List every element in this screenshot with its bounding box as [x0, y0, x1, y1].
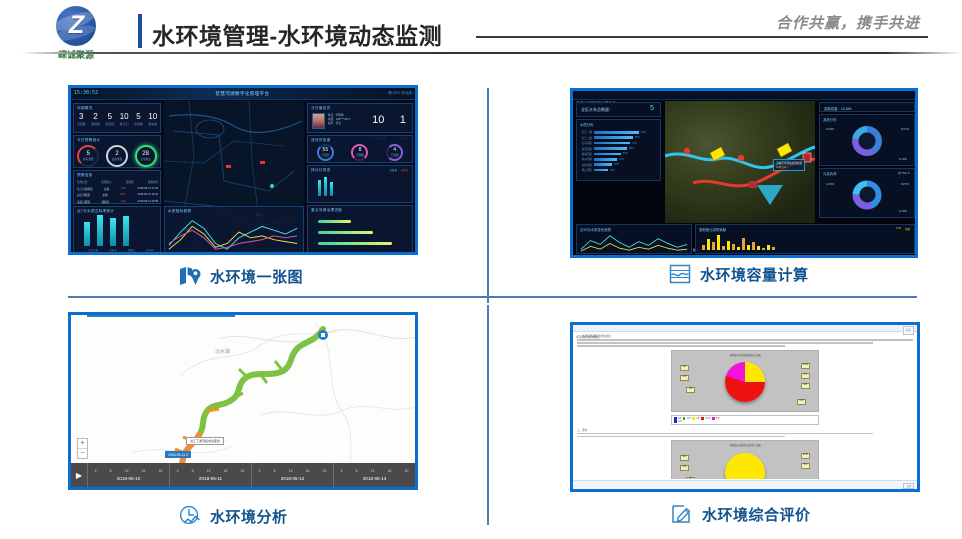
- panel-title: 河湖概况: [77, 106, 93, 111]
- avatar: [312, 113, 325, 129]
- bar: [747, 245, 750, 250]
- map-tooltip: 淡江下游河段水位变化: [186, 437, 224, 445]
- gauge-alert-exceed: 5 超标预警: [77, 145, 99, 167]
- timeline-ticks: 4 8 12 16 20: [334, 463, 415, 474]
- panel-treatment-progress: 重点河湖治理进度: [307, 205, 413, 254]
- hbar-row: 东江二级80%: [580, 136, 660, 140]
- stat-item: 5水闸数: [134, 113, 143, 126]
- logo-letter: Z: [69, 13, 83, 38]
- callout-box: 合计: [801, 373, 810, 379]
- callout-box: Ⅲ类: [680, 455, 689, 461]
- map-callout: 流域污水排放处理总量 1.25万m³: [773, 159, 805, 171]
- caption-label: 水环境容量计算: [700, 264, 809, 285]
- report-body: 一、水环境质量综合评价结论 各断面水环境质量类别占比图 Ⅲ类 Ⅳ类 Ⅴ类 劣Ⅴ类…: [577, 334, 913, 479]
- timeline-segment[interactable]: 4 8 12 16 20 2018-05-11: [169, 463, 251, 487]
- divider-vertical-bottom: [487, 305, 489, 525]
- panel-title: 重点河湖治理进度: [311, 208, 342, 213]
- divider-horizontal-right: [487, 296, 917, 298]
- figure-title: 各断面水环境质量类别占比图: [672, 353, 818, 357]
- panel-outfall-bars: 排污口排查 已排查 未排查: [307, 165, 413, 203]
- panel-title: 减排分布: [823, 117, 837, 122]
- timeline-date: 2018-05-13: [334, 474, 415, 487]
- panel-trend-line: 水质指标趋势: [164, 206, 304, 254]
- callout-box: Ⅲ类: [801, 383, 810, 389]
- panel-compliance-bars: 近7天水质达标率统计 东江大桥 白石河 清溪口 石马河: [73, 206, 161, 254]
- stat-item: 2湖泊数: [91, 113, 100, 126]
- ring-patrolled: 55 已巡查: [317, 144, 334, 161]
- zoom-in-button[interactable]: +: [78, 439, 87, 448]
- hbar: [318, 242, 392, 245]
- donut-chart-load: [853, 180, 882, 209]
- zoom-out-button[interactable]: −: [78, 448, 87, 458]
- timeline-date: 2018-05-10: [88, 474, 169, 487]
- panel-title: 今日值班员: [311, 106, 330, 111]
- screenshot-water-one-map[interactable]: 15:30:52 智慧河湖数字化管理平台 晴 23℃ 东北风 河湖概况 3河道数…: [68, 85, 418, 255]
- line-chart: [167, 215, 303, 253]
- bar-chart-outfall: [318, 174, 333, 196]
- callout-box: Ⅲ类: [680, 365, 689, 371]
- ring-resolved: 4 已处理: [386, 144, 403, 161]
- satellite-map[interactable]: 流域污水排放处理总量 1.25万m³: [665, 101, 815, 223]
- timeline-segment[interactable]: 4 8 12 16 20 2018-05-12: [251, 463, 333, 487]
- map-pin-icon: [178, 264, 202, 288]
- bar: [707, 239, 710, 250]
- bar: [110, 218, 116, 246]
- panel-extra: 共 750 人: [898, 171, 910, 175]
- hbar-row: 龙岗河段38%: [580, 163, 660, 167]
- bar: [767, 245, 770, 250]
- dashboard-canvas: 15:30:52 智慧河湖数字化管理平台 晴 23℃ 东北风 河湖概况 3河道数…: [71, 88, 415, 252]
- hbar-row: 东江一级92%: [580, 130, 660, 134]
- panel-water-quality-bars: 水质分布 东江一级92% 东江二级80% 石马河段74% 清溪河段68% 观澜河…: [576, 119, 661, 181]
- hbar-group: [318, 220, 406, 245]
- bar: [772, 247, 775, 250]
- panel-donut-load: 污染负荷 共 750 人 43.85% 38.57% 41.59%: [819, 168, 915, 218]
- duty-role: 职务：河长: [328, 121, 350, 125]
- bar: [742, 238, 745, 250]
- bar: [712, 242, 715, 250]
- header-tagline: 合作共赢，携手共进: [776, 12, 920, 33]
- bar: [123, 216, 129, 246]
- bar: [324, 177, 327, 196]
- title-accent-bar: [138, 14, 142, 48]
- bar: [737, 247, 740, 250]
- panel-trend-30d: 近30天水质变化趋势: [576, 224, 692, 254]
- timeline-ticks: 4 8 12 16 20: [88, 463, 169, 474]
- figure-pie-1: 各断面水环境质量类别占比图 Ⅲ类 Ⅳ类 Ⅴ类 劣Ⅴ类 合计 Ⅲ类 Ⅳ类: [671, 350, 819, 412]
- bar-chart-compliance: [84, 213, 129, 246]
- gauge-normal-stations: 28 正常站点: [135, 145, 157, 167]
- hbar-list: 东江一级92% 东江二级80% 石马河段74% 清溪河段68% 观澜河段56% …: [577, 129, 660, 172]
- report-toolbar: 水环境综合评价报告 打印: [573, 325, 917, 332]
- stat-item: 3河道数: [77, 113, 86, 126]
- divider-horizontal-left: [68, 296, 488, 298]
- play-button[interactable]: ▶: [71, 463, 87, 487]
- timeline-segment[interactable]: 4 8 12 16 20 2018-05-13: [333, 463, 415, 487]
- panel-alert-table: 预警信息 监测点位 监测因子 监测值 预警时间 东江大桥断面 氨氮 1.42 2…: [73, 170, 161, 204]
- ring-issues: 8 问题数: [351, 144, 368, 161]
- text-line: [577, 436, 785, 438]
- panel-pollutant-bars: 各断面污染物贡献 COD 氨氮: [695, 224, 915, 254]
- slide-root: Z 嵘诚聚源 水环境管理-水环境动态监测 合作共赢，携手共进 15:30:52 …: [0, 0, 962, 539]
- callout-box: 劣Ⅴ类: [801, 363, 810, 369]
- bar: [330, 182, 333, 196]
- figure-pie-2: 各断面水功能区达标率占比图 Ⅲ类 Ⅳ类 Ⅴ类 劣Ⅴ类 合计 Ⅳ类: [671, 440, 819, 479]
- hbar-row: 坪山河段30%: [580, 168, 660, 172]
- timeline-ticks: 4 8 12 16 20: [170, 463, 251, 474]
- bar: [717, 235, 720, 250]
- panel-title: 水质指标趋势: [168, 209, 191, 214]
- stat-row: 3河道数 2湖泊数 5监测点 10排污口 5水闸数 10泵站数: [74, 113, 160, 126]
- bar: [732, 244, 735, 250]
- bar: [727, 241, 730, 250]
- dashboard-clock: 15:30:52: [74, 90, 98, 96]
- timeline-date: 2018-05-11: [170, 474, 251, 487]
- panel-title: 污染负荷: [823, 171, 837, 176]
- panel-alert-gauges: 今日预警统计 5 超标预警 2 设备预警 28 正常站点: [73, 135, 161, 168]
- hbar: [318, 231, 373, 234]
- figure-legend-1: Ⅲ类 Ⅳ类 Ⅴ类 劣Ⅴ类 合计 达标: [671, 415, 819, 425]
- screenshot-water-analysis[interactable]: 淡水镇 + − 淡江下游河段水位变化 2018-05-11 4 ▶ 4 8 12…: [68, 312, 418, 490]
- caption-label: 水环境分析: [210, 506, 288, 527]
- panel-total-systems: 全区水系总数量： 5: [576, 102, 661, 117]
- dashboard-weather: 晴 23℃ 东北风: [388, 91, 412, 96]
- legend-row: 达标: [674, 420, 816, 423]
- bar: [84, 222, 90, 246]
- bar: [762, 248, 765, 250]
- panel-capacity-total: 容纳总量：12,455: [819, 102, 915, 112]
- report-canvas: 水环境综合评价报告 打印 一、水环境质量综合评价结论 各断面水环境质量类别占比图…: [573, 325, 917, 489]
- bar2-legend: 已排查 未排查: [390, 168, 408, 172]
- capacity-topbar: 流域水环境容量计算系统: [573, 91, 915, 100]
- panel-patrol-rings: 巡河完成度 55 已巡查 8 问题数 4 已处理: [307, 135, 413, 163]
- panel-title: 排污口排查: [311, 168, 330, 173]
- callout-box: 劣Ⅴ类: [801, 453, 810, 459]
- gauge-alert-device: 2 设备预警: [106, 145, 128, 167]
- hbar-row: 石马河段74%: [580, 141, 660, 145]
- bar: [318, 180, 321, 196]
- text-line: [577, 342, 873, 344]
- text-line: [577, 345, 785, 347]
- timeline-date: 2018-05-12: [252, 474, 333, 487]
- map-date-badge: 2018-05-11 4: [165, 451, 191, 458]
- panel-title: 预警信息: [77, 173, 93, 178]
- logo-emblem-icon: Z: [56, 6, 96, 46]
- timeline-control[interactable]: ▶ 4 8 12 16 20 2018-05-10 4 8 12: [71, 463, 415, 487]
- bar-axis-labels: 东江大桥 白石河 清溪口 石马河: [83, 248, 159, 252]
- map-zoom-control[interactable]: + −: [77, 438, 88, 459]
- table-row: 东江大桥断面 氨氮 1.42 2018-05-13 17:05: [77, 187, 158, 191]
- bar-chart-pollutants: [702, 230, 775, 250]
- logo-company-name: 嵘诚聚源: [58, 48, 94, 61]
- table-header-row: 监测点位 监测因子 监测值 预警时间: [77, 180, 158, 184]
- caption-water-capacity: 水环境容量计算: [668, 262, 809, 286]
- caption-water-evaluation: 水环境综合评价: [670, 502, 811, 526]
- stat-item: 5监测点: [105, 113, 114, 126]
- caption-water-one-map: 水环境一张图: [178, 264, 303, 288]
- chart2-legend: COD 氨氮: [896, 227, 910, 231]
- caption-label: 水环境综合评价: [702, 504, 811, 525]
- title-rule-divider: [476, 36, 928, 38]
- pencil-edit-icon: [670, 502, 694, 526]
- callout-box: Ⅴ类: [686, 387, 695, 393]
- close-button[interactable]: 关闭: [903, 483, 914, 489]
- bar: [752, 242, 755, 250]
- table-row: 清溪口断面 溶解氧 3.21 2018-05-13 15:58: [77, 200, 158, 204]
- panel-donut-reduction: 减排分布 42.09% 35.67% 21.59%: [819, 114, 915, 166]
- panel-title: 水质分布: [580, 122, 594, 127]
- bar: [702, 245, 705, 250]
- capacity-canvas: 流域水环境容量计算系统 流域污水排放处理总量 1.25万m³: [573, 91, 915, 255]
- callout-box: Ⅳ类: [680, 465, 689, 471]
- callout-box: 合计: [801, 463, 810, 469]
- header-bottom-rule: [0, 52, 962, 54]
- pie-chart-quality: [725, 362, 765, 402]
- stat-item: 10排污口: [120, 113, 129, 126]
- screenshot-water-evaluation[interactable]: 水环境综合评价报告 打印 一、水环境质量综合评价结论 各断面水环境质量类别占比图…: [570, 322, 920, 492]
- section-heading: 二、评价: [577, 428, 913, 432]
- callout-box: Ⅴ类: [686, 477, 695, 479]
- panel-title: 今日预警统计: [77, 138, 100, 143]
- bar: [757, 246, 760, 250]
- timeline-progress[interactable]: [87, 315, 235, 317]
- page-title: 水环境管理-水环境动态监测: [152, 17, 442, 51]
- dashboard-title: 智慧河湖数字化管理平台: [215, 91, 269, 97]
- text-line: [577, 433, 873, 435]
- timeline-segment[interactable]: 4 8 12 16 20 2018-05-10: [87, 463, 169, 487]
- callout-box: Ⅳ类: [680, 375, 689, 381]
- analysis-canvas: 淡水镇 + − 淡江下游河段水位变化 2018-05-11 4 ▶ 4 8 12…: [71, 315, 415, 487]
- figure-title: 各断面水功能区达标率占比图: [672, 443, 818, 447]
- wave-box-icon: [668, 262, 692, 286]
- report-footer: 关闭: [573, 480, 917, 489]
- pie-chart-compliance: [725, 453, 765, 479]
- clock-trend-icon: [178, 504, 202, 528]
- svg-text:淡水镇: 淡水镇: [215, 348, 230, 355]
- table-row: 白石河断面 总磷 0.63 2018-05-13 16:42: [77, 193, 158, 197]
- caption-label: 水环境一张图: [210, 266, 303, 287]
- panel-river-overview: 河湖概况 3河道数 2湖泊数 5监测点 10排污口 5水闸数 10泵站数: [73, 103, 161, 133]
- line-chart-trend: [579, 232, 691, 253]
- donut-chart-reduction: [852, 126, 882, 156]
- hbar-row: 清溪河段68%: [580, 147, 660, 151]
- callout-box: Ⅳ类: [797, 399, 806, 405]
- caption-water-analysis: 水环境分析: [178, 504, 288, 528]
- bar: [722, 246, 725, 250]
- hbar-row: 观澜河段56%: [580, 152, 660, 156]
- screenshot-water-capacity[interactable]: 流域水环境容量计算系统 流域污水排放处理总量 1.25万m³: [570, 88, 918, 258]
- divider-vertical-top: [487, 88, 489, 303]
- slide-header: Z 嵘诚聚源 水环境管理-水环境动态监测 合作共赢，携手共进: [0, 0, 962, 62]
- panel-duty-officer: 今日值班员 姓名：李明明 电话：138****2673 职务：河长 10 今日巡…: [307, 103, 413, 133]
- hbar: [318, 220, 351, 223]
- bar: [97, 215, 103, 246]
- panel-title: 巡河完成度: [311, 138, 330, 143]
- stat-item: 10泵站数: [148, 113, 157, 126]
- timeline-ticks: 4 8 12 16 20: [252, 463, 333, 474]
- river-map-vector: 淡水镇: [71, 315, 415, 487]
- hbar-row: 茅洲河段47%: [580, 157, 660, 161]
- section-heading: 一、水环境质量综合评价结论: [577, 334, 913, 338]
- text-line: [577, 339, 913, 341]
